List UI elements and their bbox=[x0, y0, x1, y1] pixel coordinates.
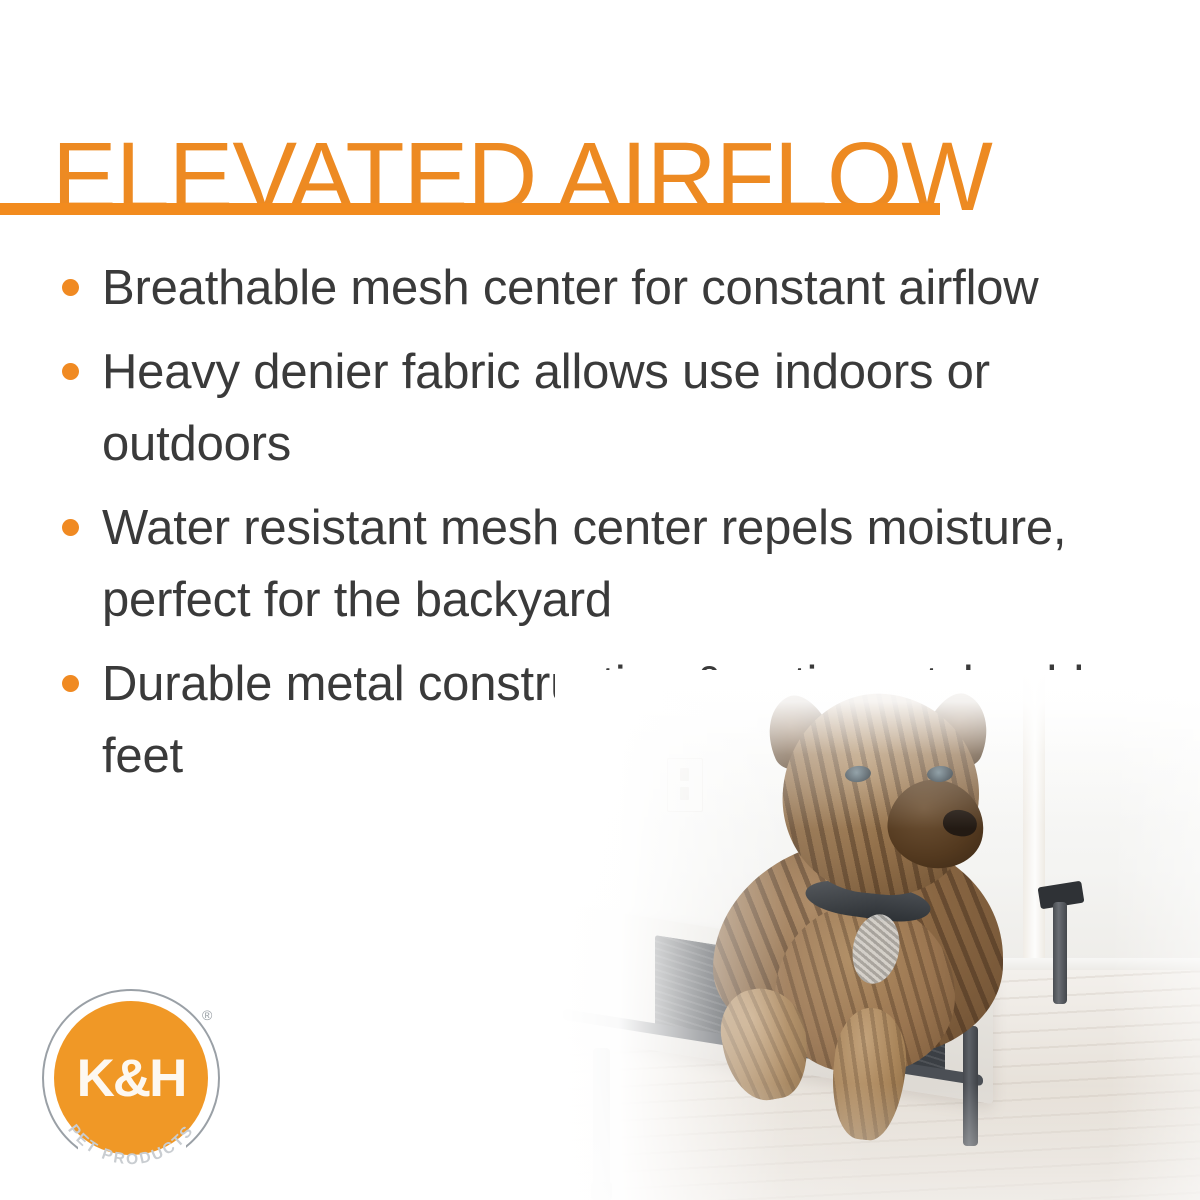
cot-leg-front-left bbox=[593, 1048, 610, 1188]
photo-scene bbox=[555, 670, 1200, 1200]
list-item-label: Water resistant mesh center repels moist… bbox=[102, 501, 1066, 627]
bullet-dot-icon bbox=[62, 675, 79, 692]
bullet-dot-icon bbox=[62, 279, 79, 296]
list-item: Water resistant mesh center repels moist… bbox=[52, 492, 1172, 636]
bullet-dot-icon bbox=[62, 519, 79, 536]
list-item-label: Breathable mesh center for constant airf… bbox=[102, 261, 1039, 315]
bullet-dot-icon bbox=[62, 363, 79, 380]
list-item-label: Heavy denier fabric allows use indoors o… bbox=[102, 345, 990, 471]
dog bbox=[705, 688, 1035, 1088]
product-photo bbox=[555, 670, 1200, 1200]
logo-tagline: PET PRODUCTS bbox=[42, 989, 220, 1167]
cot-rubber-foot bbox=[591, 1182, 612, 1200]
product-feature-card: ELEVATED AIRFLOW Breathable mesh center … bbox=[0, 0, 1200, 1200]
brand-logo: K&H ® PET PRODUCTS bbox=[36, 985, 236, 1181]
title-underline-rule bbox=[0, 203, 940, 215]
list-item: Heavy denier fabric allows use indoors o… bbox=[52, 336, 1172, 480]
cot-leg-back-right bbox=[1053, 902, 1067, 1004]
wall-outlet bbox=[667, 758, 703, 812]
list-item: Breathable mesh center for constant airf… bbox=[52, 252, 1172, 324]
logo-tagline-text: PET PRODUCTS bbox=[64, 1122, 197, 1169]
